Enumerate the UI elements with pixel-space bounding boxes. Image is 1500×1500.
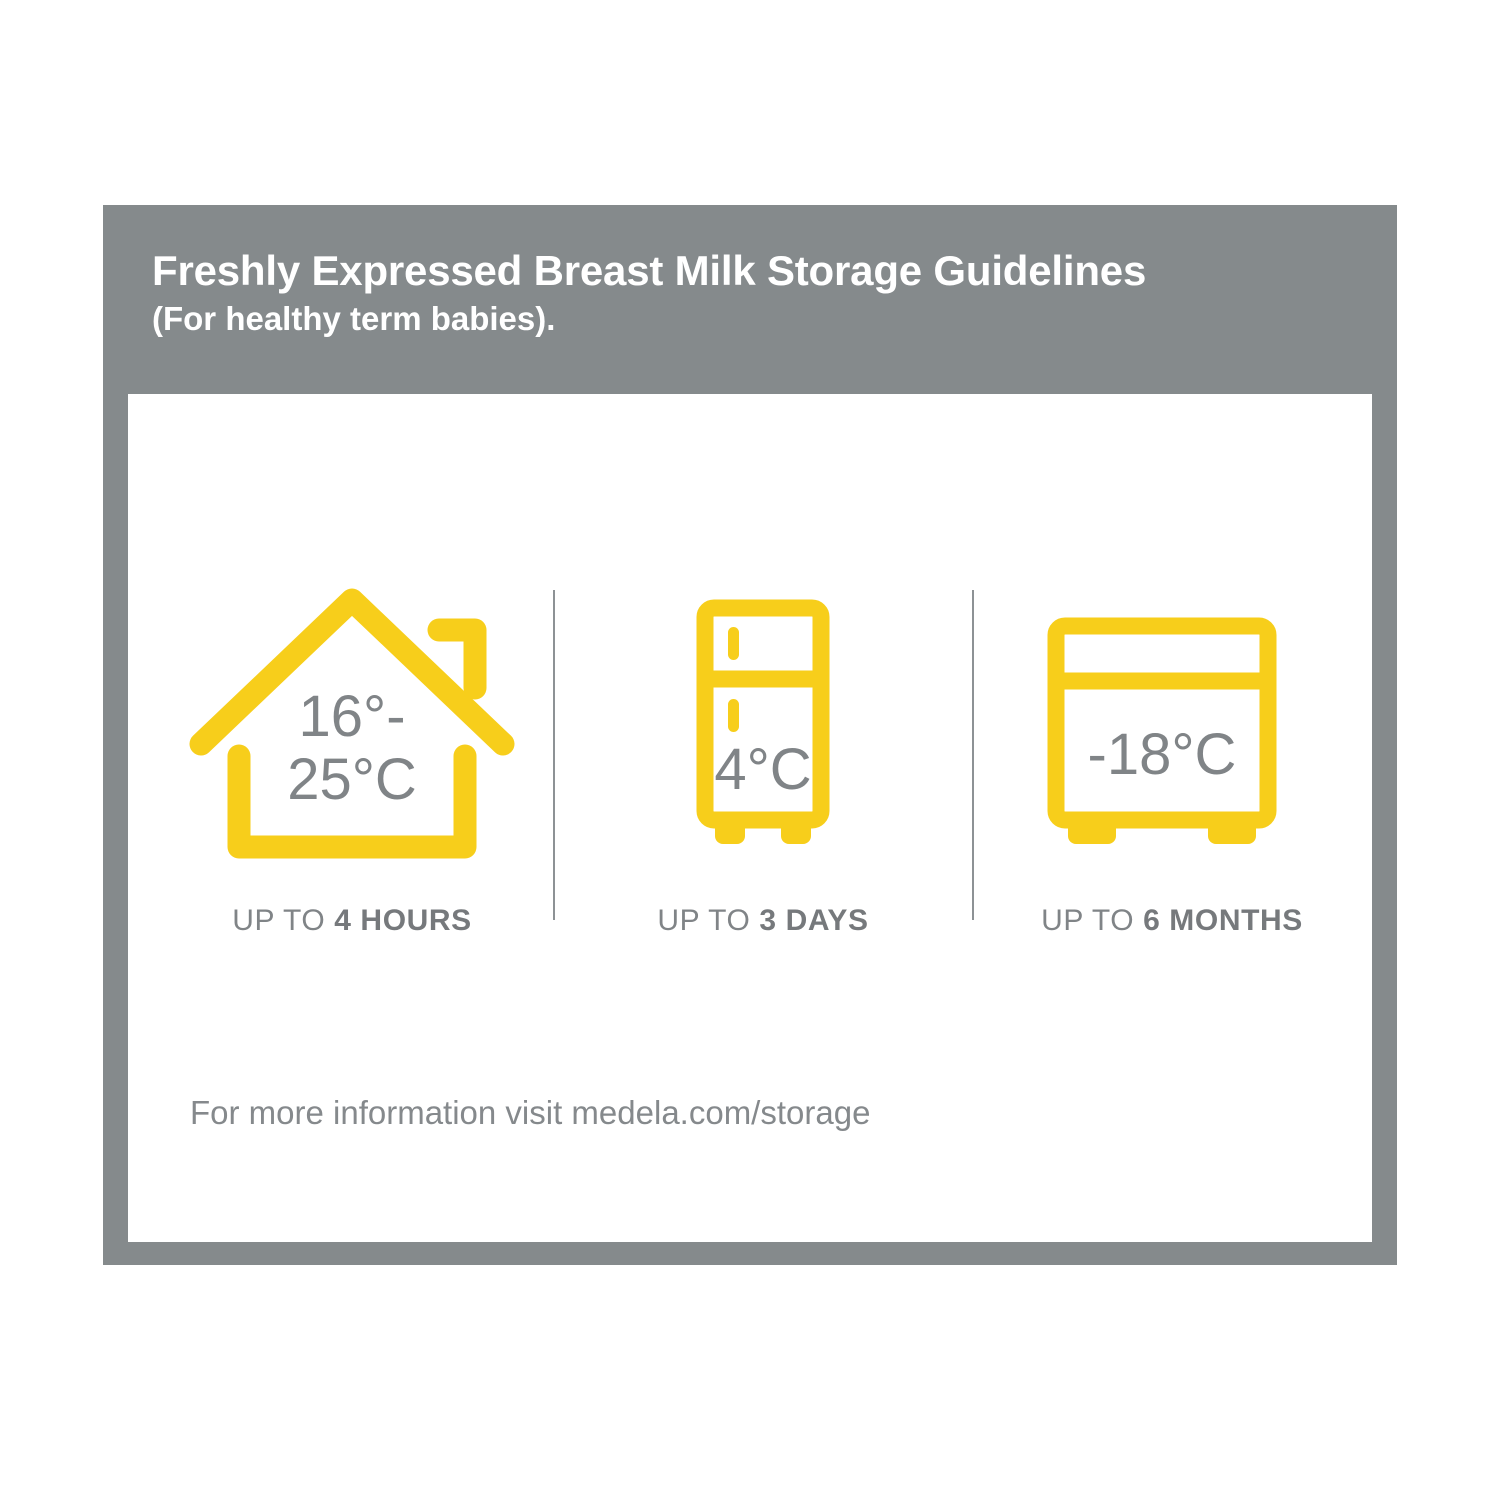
house-temperature-line2: 25°C (287, 747, 417, 812)
storage-guidelines-infographic: Freshly Expressed Breast Milk Storage Gu… (103, 205, 1397, 1265)
freezer-temperature: -18°C (1088, 722, 1237, 787)
storage-columns: 16°- 25°C UP TO 4 HOURS (128, 394, 1372, 964)
page-title: Freshly Expressed Breast Milk Storage Gu… (152, 247, 1332, 294)
caption-room-prefix: UP TO (232, 904, 334, 937)
refrigerator-icon-wrap: 4°C (554, 584, 972, 864)
caption-freezer-prefix: UP TO (1041, 904, 1143, 937)
footer-text: For more information visit medela.com/st… (190, 1094, 870, 1132)
caption-room: UP TO 4 HOURS (150, 904, 554, 938)
header: Freshly Expressed Breast Milk Storage Gu… (152, 247, 1332, 338)
storage-column-freezer: -18°C UP TO 6 MONTHS (972, 394, 1372, 964)
freezer-icon: -18°C (1042, 584, 1302, 864)
caption-room-value: 4 HOURS (334, 904, 472, 937)
storage-column-room: 16°- 25°C UP TO 4 HOURS (150, 394, 554, 964)
content-panel: 16°- 25°C UP TO 4 HOURS (128, 394, 1372, 1242)
caption-freezer: UP TO 6 MONTHS (972, 904, 1372, 938)
caption-freezer-value: 6 MONTHS (1143, 904, 1303, 937)
house-icon: 16°- 25°C (187, 584, 517, 864)
refrigerator-icon: 4°C (673, 584, 853, 864)
storage-column-fridge: 4°C UP TO 3 DAYS (554, 394, 972, 964)
caption-fridge: UP TO 3 DAYS (554, 904, 972, 938)
fridge-temperature: 4°C (714, 737, 811, 802)
page-subtitle: (For healthy term babies). (152, 300, 1332, 338)
house-temperature-line1: 16°- (298, 684, 405, 749)
caption-fridge-prefix: UP TO (657, 904, 759, 937)
house-icon-wrap: 16°- 25°C (150, 584, 554, 864)
caption-fridge-value: 3 DAYS (759, 904, 868, 937)
freezer-icon-wrap: -18°C (972, 584, 1372, 864)
